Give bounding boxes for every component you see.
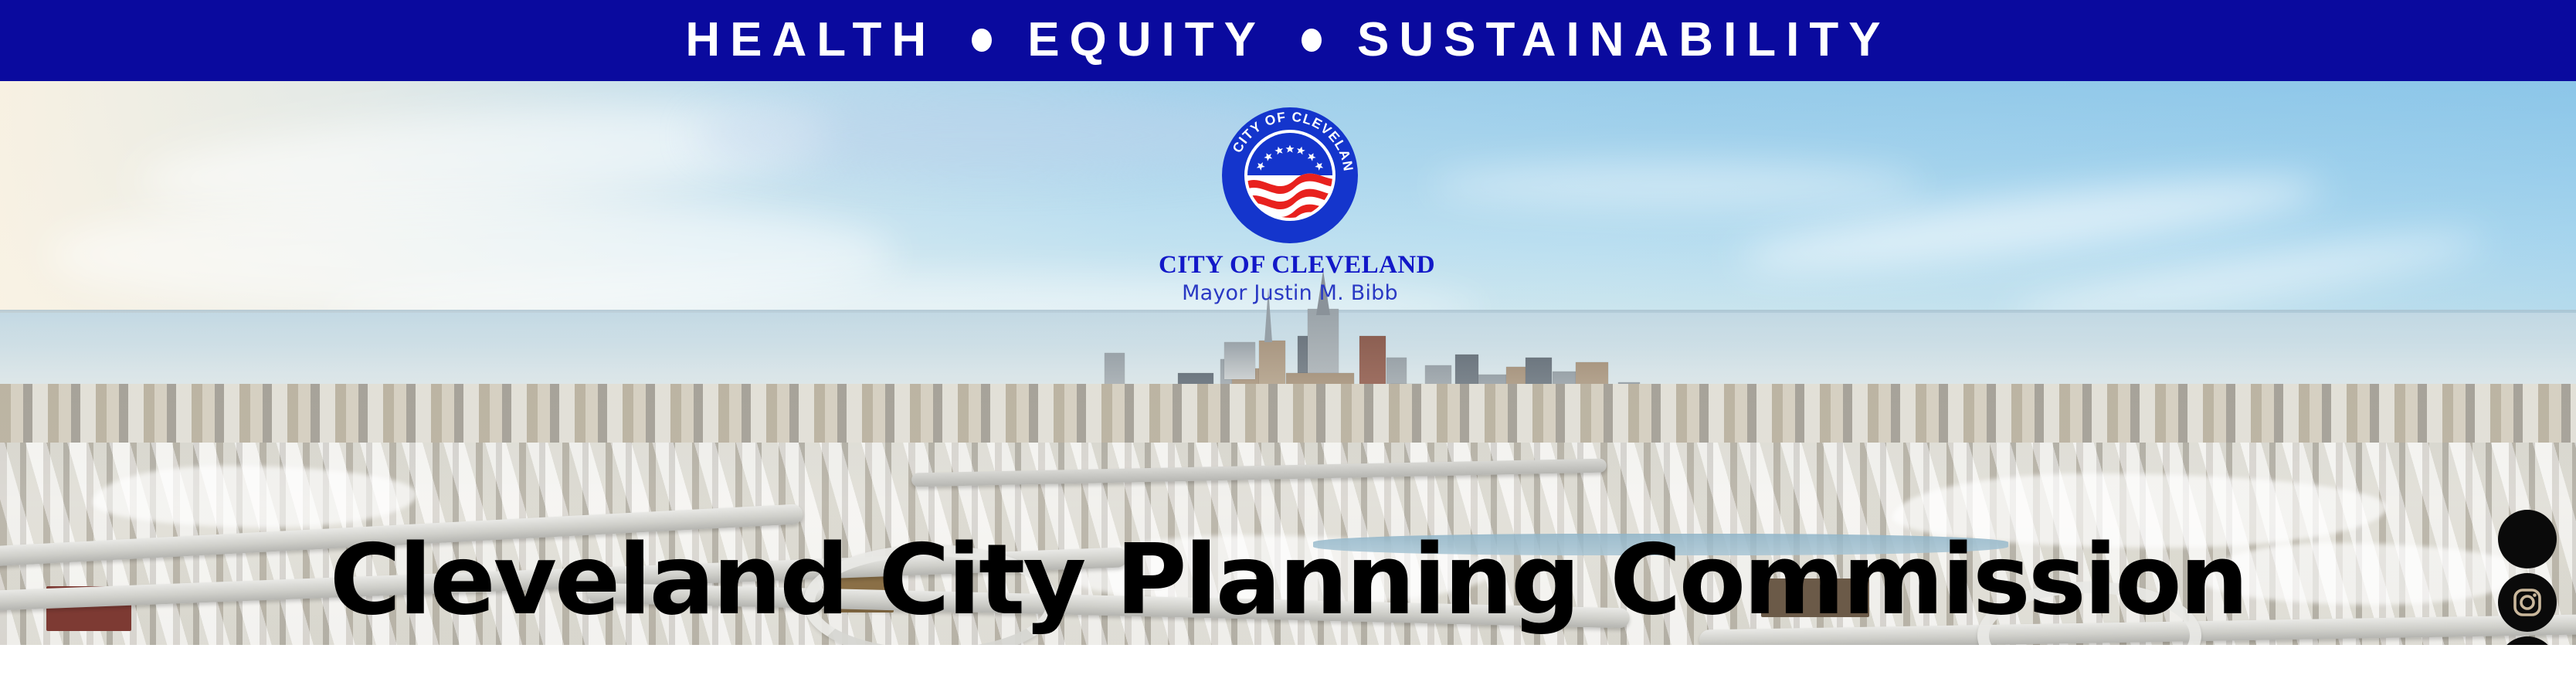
- social-link-instagram[interactable]: [2498, 573, 2557, 632]
- mayor-name-label: Mayor Justin M. Bibb: [1159, 283, 1421, 304]
- bottom-white-strip: [0, 645, 2576, 682]
- page-title: Cleveland City Planning Commission: [0, 531, 2576, 629]
- tagline-banner: HEALTH EQUITY SUSTAINABILITY: [0, 0, 2576, 81]
- snow-patch: [93, 466, 417, 528]
- building: [1224, 342, 1255, 379]
- youtube-icon: [2510, 522, 2544, 556]
- bullet-dot-icon: [1302, 29, 1322, 52]
- instagram-icon: [2510, 585, 2544, 619]
- social-link-facebook[interactable]: [2498, 636, 2557, 645]
- city-brand-block: CITY OF CLEVELAND OHIO CITY OF CLEVELAND…: [1159, 106, 1421, 304]
- page-root: HEALTH EQUITY SUSTAINABILITY: [0, 0, 2576, 682]
- city-of-cleveland-seal: CITY OF CLEVELAND OHIO: [1220, 106, 1359, 245]
- social-links-rail: [2498, 510, 2558, 645]
- tagline-word-sustainability: SUSTAINABILITY: [1357, 16, 1891, 64]
- city-name-wordmark: CITY OF CLEVELAND: [1159, 252, 1421, 279]
- hero-photo-banner: CITY OF CLEVELAND OHIO CITY OF CLEVELAND…: [0, 81, 2576, 645]
- tagline-words: HEALTH EQUITY SUSTAINABILITY: [685, 16, 1890, 64]
- tagline-word-health: HEALTH: [685, 16, 936, 64]
- tagline-word-equity: EQUITY: [1027, 16, 1266, 64]
- bullet-dot-icon: [972, 29, 992, 52]
- social-link-youtube[interactable]: [2498, 510, 2557, 568]
